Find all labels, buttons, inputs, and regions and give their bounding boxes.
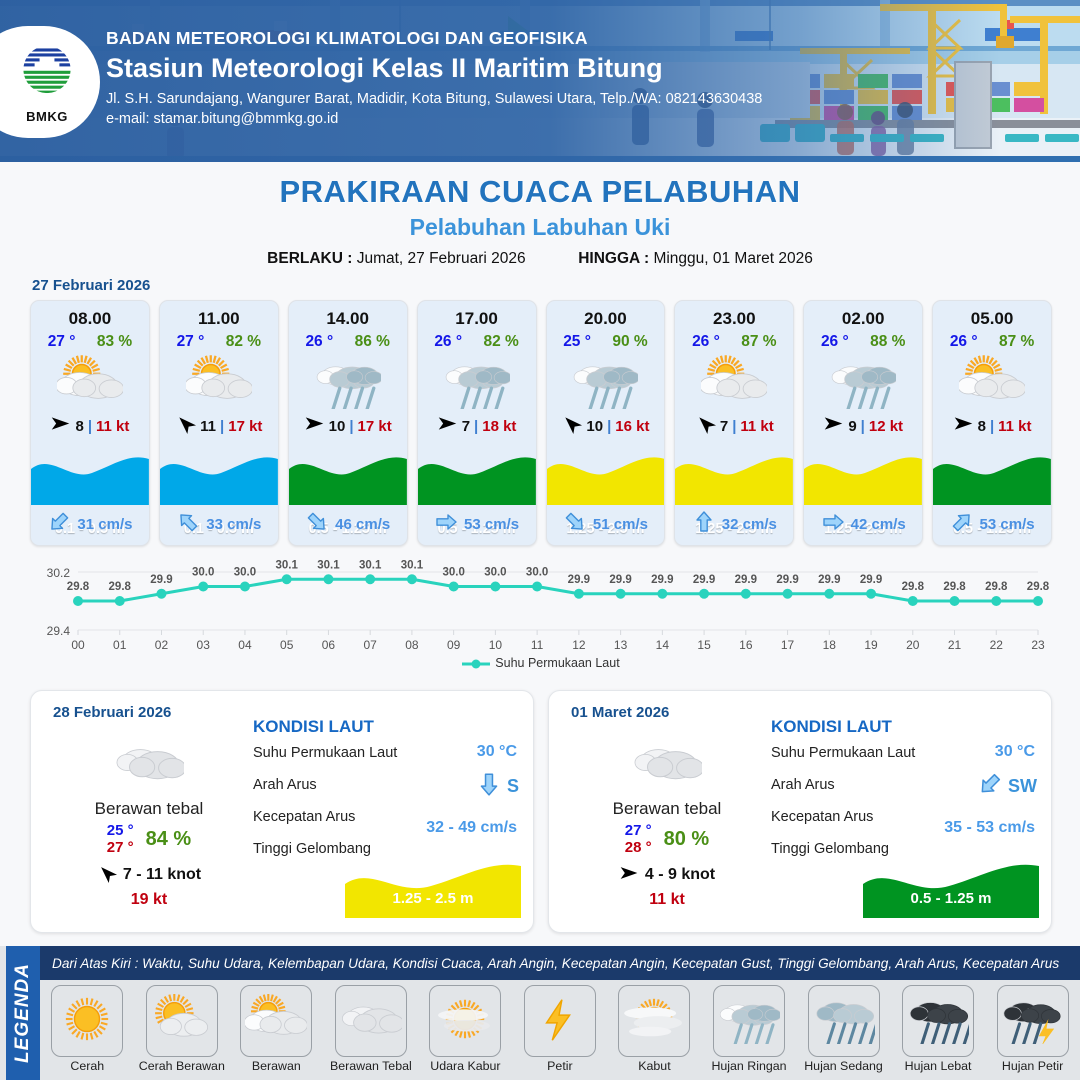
legend-section: LEGENDA Dari Atas Kiri : Waktu, Suhu Uda…: [0, 946, 1080, 1080]
card-wind-row: 9 | 12 kt: [804, 413, 922, 439]
legend-icon-box: [240, 985, 312, 1057]
panel-condition: Berawan tebal: [567, 799, 767, 819]
current-direction-value: S: [507, 776, 519, 797]
legend-items-list: Cerah Cerah Berawan Berawan Berawan Teba…: [40, 982, 1080, 1080]
hujan-lebat-icon: [907, 994, 969, 1049]
card-current-speed: 42 cm/s: [851, 516, 906, 533]
svg-text:29.9: 29.9: [860, 574, 882, 586]
card-gust-speed: 17 kt: [228, 418, 262, 435]
title-section: PRAKIRAAN CUACA PELABUHAN Pelabuhan Labu…: [0, 162, 1080, 268]
svg-text:02: 02: [155, 638, 169, 652]
chart-legend-label: Suhu Permukaan Laut: [495, 656, 619, 670]
valid-until-label: HINGGA :: [578, 250, 649, 267]
panel-wind-row: 7 - 11 knot: [49, 863, 249, 888]
svg-text:17: 17: [781, 638, 795, 652]
legend-note-bar: Dari Atas Kiri : Waktu, Suhu Udara, Kele…: [40, 946, 1080, 980]
current-speed-value: 32 - 49 cm/s: [426, 819, 517, 837]
wind-direction-arrow-icon: [304, 413, 325, 439]
panel-date: 01 Maret 2026: [571, 704, 669, 721]
panel-humidity: 80 %: [664, 828, 710, 851]
legend-item: Berawan: [232, 985, 320, 1073]
panel-temp-humidity: 27 ° 28 ° 80 %: [567, 822, 767, 857]
sea-conditions-title: KONDISI LAUT: [253, 717, 523, 737]
card-wind-speed: 7: [720, 418, 728, 435]
card-temperature: 26 °: [950, 333, 978, 351]
svg-text:08: 08: [405, 638, 419, 652]
card-gust-speed: 11 kt: [740, 418, 773, 435]
current-direction-arrow-icon: [47, 510, 71, 539]
svg-text:13: 13: [614, 638, 628, 652]
svg-text:03: 03: [197, 638, 211, 652]
card-wind-speed: 8: [75, 418, 83, 435]
legend-item-label: Petir: [516, 1059, 604, 1073]
card-wave-graphic: [804, 447, 922, 505]
hourly-card: 05.00 26 ° 87 % 8 | 11 kt 0.5 - 1.25 m 5…: [932, 300, 1052, 546]
svg-text:29.4: 29.4: [47, 624, 71, 638]
card-wind-speed: 7: [462, 418, 470, 435]
legend-item-label: Udara Kabur: [421, 1059, 509, 1073]
svg-text:00: 00: [71, 638, 85, 652]
card-weather-icon: [933, 351, 1051, 413]
wind-direction-arrow-icon: [50, 413, 71, 439]
card-gust-speed: 11 kt: [96, 418, 129, 435]
sst-label: Suhu Permukaan Laut: [253, 745, 397, 761]
current-direction-row: Arah Arus S: [253, 773, 523, 805]
current-speed-label: Kecepatan Arus: [253, 809, 355, 825]
current-direction-arrow-icon: [305, 510, 329, 539]
legend-icon-box: [902, 985, 974, 1057]
card-gust-speed: 12 kt: [869, 418, 903, 435]
card-weather-icon: [31, 351, 149, 413]
legend-item: Cerah: [43, 985, 131, 1073]
svg-text:16: 16: [739, 638, 753, 652]
legend-item: Hujan Lebat: [894, 985, 982, 1073]
panel-humidity: 84 %: [146, 828, 192, 851]
header-banner: BMKG BADAN METEOROLOGI KLIMATOLOGI DAN G…: [0, 0, 1080, 162]
legend-item: Hujan Petir: [989, 985, 1077, 1073]
wind-direction-arrow-icon: [695, 413, 716, 439]
sst-label: Suhu Permukaan Laut: [771, 745, 915, 761]
wind-direction-arrow-icon: [175, 413, 196, 439]
sst-value: 30 °C: [995, 743, 1035, 761]
card-temperature: 26 °: [692, 333, 720, 351]
current-direction-arrow-icon: [176, 510, 200, 539]
card-wind-separator: |: [220, 418, 224, 435]
hourly-card: 20.00 25 ° 90 % 10 | 16 kt 1.25 - 2.5 m …: [546, 300, 666, 546]
card-temperature: 25 °: [563, 333, 591, 351]
legend-icon-box: [713, 985, 785, 1057]
card-wave-graphic: [160, 447, 278, 505]
panel-condition: Berawan tebal: [49, 799, 249, 819]
panel-gust: 19 kt: [49, 891, 249, 909]
card-wind-row: 8 | 11 kt: [31, 413, 149, 439]
svg-text:29.9: 29.9: [150, 574, 172, 586]
svg-text:14: 14: [656, 638, 670, 652]
card-wind-separator: |: [349, 418, 353, 435]
sst-chart: 30.229.429.80029.80129.90230.00330.00430…: [30, 558, 1052, 678]
legend-icon-box: [146, 985, 218, 1057]
svg-text:29.9: 29.9: [609, 574, 631, 586]
current-direction-arrow-icon: [563, 510, 587, 539]
svg-text:19: 19: [864, 638, 878, 652]
panel-left-column: Berawan tebal 27 ° 28 ° 80 % 4 - 9 knot …: [567, 733, 767, 909]
wind-direction-arrow-icon: [561, 413, 582, 439]
svg-text:21: 21: [948, 638, 962, 652]
legend-icon-box: [51, 985, 123, 1057]
legend-icon-box: [997, 985, 1069, 1057]
sea-conditions-title: KONDISI LAUT: [771, 717, 1041, 737]
card-temp-humidity: 26 ° 86 %: [289, 329, 407, 351]
valid-until-value: Minggu, 01 Maret 2026: [653, 250, 812, 267]
panel-wind-range: 4 - 9 knot: [645, 866, 715, 884]
legend-note-text: Dari Atas Kiri : Waktu, Suhu Udara, Kele…: [40, 956, 1059, 971]
current-speed-label: Kecepatan Arus: [771, 809, 873, 825]
card-time: 14.00: [289, 301, 407, 329]
svg-text:29.8: 29.8: [109, 581, 132, 593]
svg-text:11: 11: [531, 638, 544, 652]
card-wind-separator: |: [990, 418, 994, 435]
card-wind-separator: |: [88, 418, 92, 435]
panel-weather-icon: [567, 733, 767, 793]
validity-row: BERLAKU : Jumat, 27 Februari 2026 HINGGA…: [0, 250, 1080, 268]
card-wave-graphic: [418, 447, 536, 505]
svg-text:30.2: 30.2: [47, 566, 71, 580]
svg-text:20: 20: [906, 638, 920, 652]
card-weather-icon: [804, 351, 922, 413]
card-current-row: 31 cm/s: [31, 509, 149, 539]
card-wind-speed: 10: [329, 418, 346, 435]
current-direction-label: Arah Arus: [771, 777, 835, 793]
card-weather-icon: [547, 351, 665, 413]
wave-height-label: Tinggi Gelombang: [771, 841, 889, 857]
page-subtitle: Pelabuhan Labuhan Uki: [0, 214, 1080, 241]
legend-item-label: Kabut: [610, 1059, 698, 1073]
panel-wind-row: 4 - 9 knot: [567, 863, 767, 888]
legend-item: Cerah Berawan: [138, 985, 226, 1073]
svg-text:30.1: 30.1: [401, 559, 424, 571]
svg-text:01: 01: [113, 638, 127, 652]
daily-forecast-panel: 01 Maret 2026 Berawan tebal 27 ° 28 ° 80…: [548, 690, 1052, 933]
hujan-sedang-icon: [813, 994, 875, 1049]
svg-text:29.9: 29.9: [568, 574, 590, 586]
card-temperature: 27 °: [48, 333, 76, 351]
card-temp-humidity: 27 ° 83 %: [31, 329, 149, 351]
panel-temp-humidity: 25 ° 27 ° 84 %: [49, 822, 249, 857]
svg-text:29.9: 29.9: [735, 574, 757, 586]
wave-height-label: Tinggi Gelombang: [253, 841, 371, 857]
card-humidity: 87 %: [999, 333, 1034, 351]
card-wind-separator: |: [732, 418, 736, 435]
panel-gust: 11 kt: [567, 891, 767, 909]
card-wind-row: 10 | 17 kt: [289, 413, 407, 439]
panel-sea-conditions: KONDISI LAUT Suhu Permukaan Laut 30 °C A…: [771, 717, 1041, 869]
card-wind-row: 8 | 11 kt: [933, 413, 1051, 439]
current-direction-arrow-icon: [950, 510, 974, 539]
svg-text:29.9: 29.9: [651, 574, 673, 586]
legend-item-label: Berawan: [232, 1059, 320, 1073]
card-wave-graphic: [31, 447, 149, 505]
card-gust-speed: 18 kt: [482, 418, 516, 435]
card-humidity: 87 %: [741, 333, 776, 351]
card-time: 02.00: [804, 301, 922, 329]
card-temp-humidity: 25 ° 90 %: [547, 329, 665, 351]
legend-item: Hujan Sedang: [800, 985, 888, 1073]
svg-text:23: 23: [1031, 638, 1045, 652]
panel-temp-max: 27 °: [107, 839, 134, 856]
card-current-row: 53 cm/s: [418, 509, 536, 539]
card-time: 17.00: [418, 301, 536, 329]
hourly-card: 08.00 27 ° 83 % 8 | 11 kt 0.1 - 0.5 m 31…: [30, 300, 150, 546]
wind-direction-arrow-icon: [953, 413, 974, 439]
station-address: Jl. S.H. Sarundajang, Wangurer Barat, Ma…: [106, 91, 762, 107]
svg-text:30.0: 30.0: [484, 567, 506, 579]
svg-text:09: 09: [447, 638, 461, 652]
svg-text:30.1: 30.1: [276, 559, 299, 571]
card-wind-speed: 11: [200, 418, 216, 435]
station-email: e-mail: stamar.bitung@bmmkg.go.id: [106, 111, 762, 127]
hujan-ringan-icon: [718, 994, 780, 1049]
hourly-card: 14.00 26 ° 86 % 10 | 17 kt 0.5 - 1.25 m …: [288, 300, 408, 546]
card-wind-row: 7 | 18 kt: [418, 413, 536, 439]
card-temp-humidity: 27 ° 82 %: [160, 329, 278, 351]
panel-left-column: Berawan tebal 25 ° 27 ° 84 % 7 - 11 knot…: [49, 733, 249, 909]
current-direction-value: SW: [1008, 776, 1037, 797]
sst-value: 30 °C: [477, 743, 517, 761]
card-current-speed: 53 cm/s: [980, 516, 1035, 533]
udara-kabur-icon: [434, 994, 496, 1049]
svg-text:29.9: 29.9: [818, 574, 840, 586]
card-temperature: 27 °: [177, 333, 205, 351]
card-humidity: 82 %: [483, 333, 518, 351]
card-wave-graphic: [289, 447, 407, 505]
hourly-forecast-list: 08.00 27 ° 83 % 8 | 11 kt 0.1 - 0.5 m 31…: [30, 300, 1052, 546]
card-wind-separator: |: [474, 418, 478, 435]
svg-text:29.8: 29.8: [943, 581, 966, 593]
chart-legend: Suhu Permukaan Laut: [30, 656, 1052, 670]
card-current-row: 42 cm/s: [804, 509, 922, 539]
panel-current-arrow-icon: [977, 771, 1003, 802]
current-direction-label: Arah Arus: [253, 777, 317, 793]
card-temperature: 26 °: [305, 333, 333, 351]
current-direction-arrow-icon: [434, 510, 458, 539]
legend-item-label: Hujan Petir: [989, 1059, 1077, 1073]
panel-weather-icon: [49, 733, 249, 793]
legend-side-title-text: LEGENDA: [12, 963, 34, 1063]
current-speed-row: Kecepatan Arus 35 - 53 cm/s: [771, 805, 1041, 837]
card-weather-icon: [289, 351, 407, 413]
header-text-block: BADAN METEOROLOGI KLIMATOLOGI DAN GEOFIS…: [106, 28, 762, 127]
valid-from-label: BERLAKU :: [267, 250, 352, 267]
card-wind-speed: 8: [978, 418, 986, 435]
valid-from-value: Jumat, 27 Februari 2026: [357, 250, 526, 267]
legend-item: Petir: [516, 985, 604, 1073]
legend-item-label: Cerah Berawan: [138, 1059, 226, 1073]
card-time: 23.00: [675, 301, 793, 329]
legend-item: Berawan Tebal: [327, 985, 415, 1073]
card-current-row: 53 cm/s: [933, 509, 1051, 539]
current-speed-row: Kecepatan Arus 32 - 49 cm/s: [253, 805, 523, 837]
card-wave-graphic: [675, 447, 793, 505]
card-weather-icon: [418, 351, 536, 413]
panel-wind-direction-arrow-icon: [619, 863, 639, 888]
card-humidity: 82 %: [226, 333, 261, 351]
card-temp-humidity: 26 ° 88 %: [804, 329, 922, 351]
card-current-row: 33 cm/s: [160, 509, 278, 539]
svg-text:18: 18: [823, 638, 837, 652]
card-humidity: 90 %: [612, 333, 647, 351]
agency-name: BADAN METEOROLOGI KLIMATOLOGI DAN GEOFIS…: [106, 28, 762, 49]
legend-icon-box: [808, 985, 880, 1057]
legend-icon-box: [524, 985, 596, 1057]
panel-wind-direction-arrow-icon: [97, 863, 117, 888]
card-weather-icon: [160, 351, 278, 413]
legend-item-label: Hujan Ringan: [705, 1059, 793, 1073]
hujan-petir-icon: [1002, 994, 1064, 1049]
card-wave-graphic: [933, 447, 1051, 505]
svg-text:30.0: 30.0: [442, 567, 464, 579]
svg-text:05: 05: [280, 638, 294, 652]
panel-temp-max: 28 °: [625, 839, 652, 856]
card-current-speed: 51 cm/s: [593, 516, 648, 533]
svg-text:30.0: 30.0: [234, 567, 256, 579]
card-current-row: 46 cm/s: [289, 509, 407, 539]
svg-text:06: 06: [322, 638, 336, 652]
svg-text:29.8: 29.8: [985, 581, 1008, 593]
legend-item-label: Cerah: [43, 1059, 131, 1073]
current-direction-value-group: SW: [977, 771, 1037, 802]
legend-item: Udara Kabur: [421, 985, 509, 1073]
legend-icon-box: [335, 985, 407, 1057]
page-title: PRAKIRAAN CUACA PELABUHAN: [0, 174, 1080, 210]
chart-legend-marker: [462, 658, 490, 670]
card-current-speed: 46 cm/s: [335, 516, 390, 533]
panel-wave-graphic: 0.5 - 1.25 m: [863, 856, 1039, 918]
legend-icon-box: [429, 985, 501, 1057]
card-time: 11.00: [160, 301, 278, 329]
card-current-row: 32 cm/s: [675, 509, 793, 539]
panel-wave-height: 1.25 - 2.5 m: [345, 890, 521, 907]
panel-wind-range: 7 - 11 knot: [123, 866, 201, 884]
card-wind-row: 11 | 17 kt: [160, 413, 278, 439]
panel-current-arrow-icon: [476, 771, 502, 802]
svg-text:07: 07: [363, 638, 377, 652]
panel-temp-min: 25 °: [107, 822, 134, 839]
card-current-speed: 32 cm/s: [722, 516, 777, 533]
card-current-speed: 31 cm/s: [77, 516, 132, 533]
legend-item-label: Berawan Tebal: [327, 1059, 415, 1073]
legend-item: Hujan Ringan: [705, 985, 793, 1073]
svg-text:30.0: 30.0: [192, 567, 214, 579]
svg-text:30.1: 30.1: [359, 559, 382, 571]
card-wind-speed: 10: [586, 418, 603, 435]
panel-sea-conditions: KONDISI LAUT Suhu Permukaan Laut 30 °C A…: [253, 717, 523, 869]
hourly-card: 02.00 26 ° 88 % 9 | 12 kt 1.25 - 2.5 m 4…: [803, 300, 923, 546]
current-direction-value-group: S: [476, 771, 519, 802]
daily-forecast-panel: 28 Februari 2026 Berawan tebal 25 ° 27 °…: [30, 690, 534, 933]
card-wind-row: 7 | 11 kt: [675, 413, 793, 439]
card-temperature: 26 °: [821, 333, 849, 351]
card-time: 08.00: [31, 301, 149, 329]
card-gust-speed: 11 kt: [998, 418, 1031, 435]
legend-icon-box: [618, 985, 690, 1057]
svg-text:29.9: 29.9: [776, 574, 798, 586]
bmkg-logo-text: BMKG: [16, 109, 78, 124]
card-temp-humidity: 26 ° 87 %: [675, 329, 793, 351]
wind-direction-arrow-icon: [823, 413, 844, 439]
panel-wave-graphic: 1.25 - 2.5 m: [345, 856, 521, 918]
hourly-card: 11.00 27 ° 82 % 11 | 17 kt 0.1 - 0.5 m 3…: [159, 300, 279, 546]
card-humidity: 83 %: [97, 333, 132, 351]
card-time: 20.00: [547, 301, 665, 329]
card-current-speed: 33 cm/s: [206, 516, 261, 533]
panel-temp-min: 27 °: [625, 822, 652, 839]
svg-text:29.8: 29.8: [67, 581, 90, 593]
svg-text:30.0: 30.0: [526, 567, 548, 579]
card-current-row: 51 cm/s: [547, 509, 665, 539]
card-wind-separator: |: [861, 418, 865, 435]
svg-text:12: 12: [572, 638, 586, 652]
svg-text:22: 22: [990, 638, 1004, 652]
svg-text:29.9: 29.9: [693, 574, 715, 586]
svg-text:30.1: 30.1: [317, 559, 340, 571]
sst-row: Suhu Permukaan Laut 30 °C: [771, 741, 1041, 773]
hourly-card: 17.00 26 ° 82 % 7 | 18 kt 0.5 - 1.25 m 5…: [417, 300, 537, 546]
hourly-date-label: 27 Februari 2026: [32, 277, 150, 294]
sst-chart-svg: 30.229.429.80029.80129.90230.00330.00430…: [30, 558, 1052, 654]
cerah-berawan-icon: [151, 994, 213, 1049]
berawan-icon: [245, 994, 307, 1049]
svg-text:29.8: 29.8: [1027, 581, 1050, 593]
current-direction-row: Arah Arus SW: [771, 773, 1041, 805]
legend-item-label: Hujan Sedang: [800, 1059, 888, 1073]
card-temp-humidity: 26 ° 82 %: [418, 329, 536, 351]
wind-direction-arrow-icon: [437, 413, 458, 439]
panel-wave-height: 0.5 - 1.25 m: [863, 890, 1039, 907]
card-time: 05.00: [933, 301, 1051, 329]
current-speed-value: 35 - 53 cm/s: [944, 819, 1035, 837]
card-wave-graphic: [547, 447, 665, 505]
card-temperature: 26 °: [434, 333, 462, 351]
svg-text:04: 04: [238, 638, 252, 652]
current-direction-arrow-icon: [692, 510, 716, 539]
card-wind-row: 10 | 16 kt: [547, 413, 665, 439]
card-gust-speed: 17 kt: [358, 418, 392, 435]
daily-forecast-panels: 28 Februari 2026 Berawan tebal 25 ° 27 °…: [30, 690, 1052, 933]
panel-date: 28 Februari 2026: [53, 704, 171, 721]
infographic-page: BMKG BADAN METEOROLOGI KLIMATOLOGI DAN G…: [0, 0, 1080, 1080]
card-wind-speed: 9: [848, 418, 856, 435]
petir-icon: [529, 994, 591, 1049]
legend-item-label: Hujan Lebat: [894, 1059, 982, 1073]
card-wind-separator: |: [607, 418, 611, 435]
card-weather-icon: [675, 351, 793, 413]
svg-text:29.8: 29.8: [902, 581, 925, 593]
current-direction-arrow-icon: [821, 510, 845, 539]
card-current-speed: 53 cm/s: [464, 516, 519, 533]
svg-text:15: 15: [697, 638, 711, 652]
legend-side-title: LEGENDA: [6, 946, 40, 1080]
card-humidity: 86 %: [355, 333, 390, 351]
bmkg-logo-icon: [16, 41, 78, 103]
card-gust-speed: 16 kt: [615, 418, 649, 435]
hourly-card: 23.00 26 ° 87 % 7 | 11 kt 1.25 - 2.5 m 3…: [674, 300, 794, 546]
svg-text:10: 10: [489, 638, 503, 652]
cerah-icon: [56, 994, 118, 1049]
legend-item: Kabut: [610, 985, 698, 1073]
berawan-tebal-icon: [340, 994, 402, 1049]
kabut-icon: [623, 994, 685, 1049]
station-name: Stasiun Meteorologi Kelas II Maritim Bit…: [106, 53, 762, 84]
